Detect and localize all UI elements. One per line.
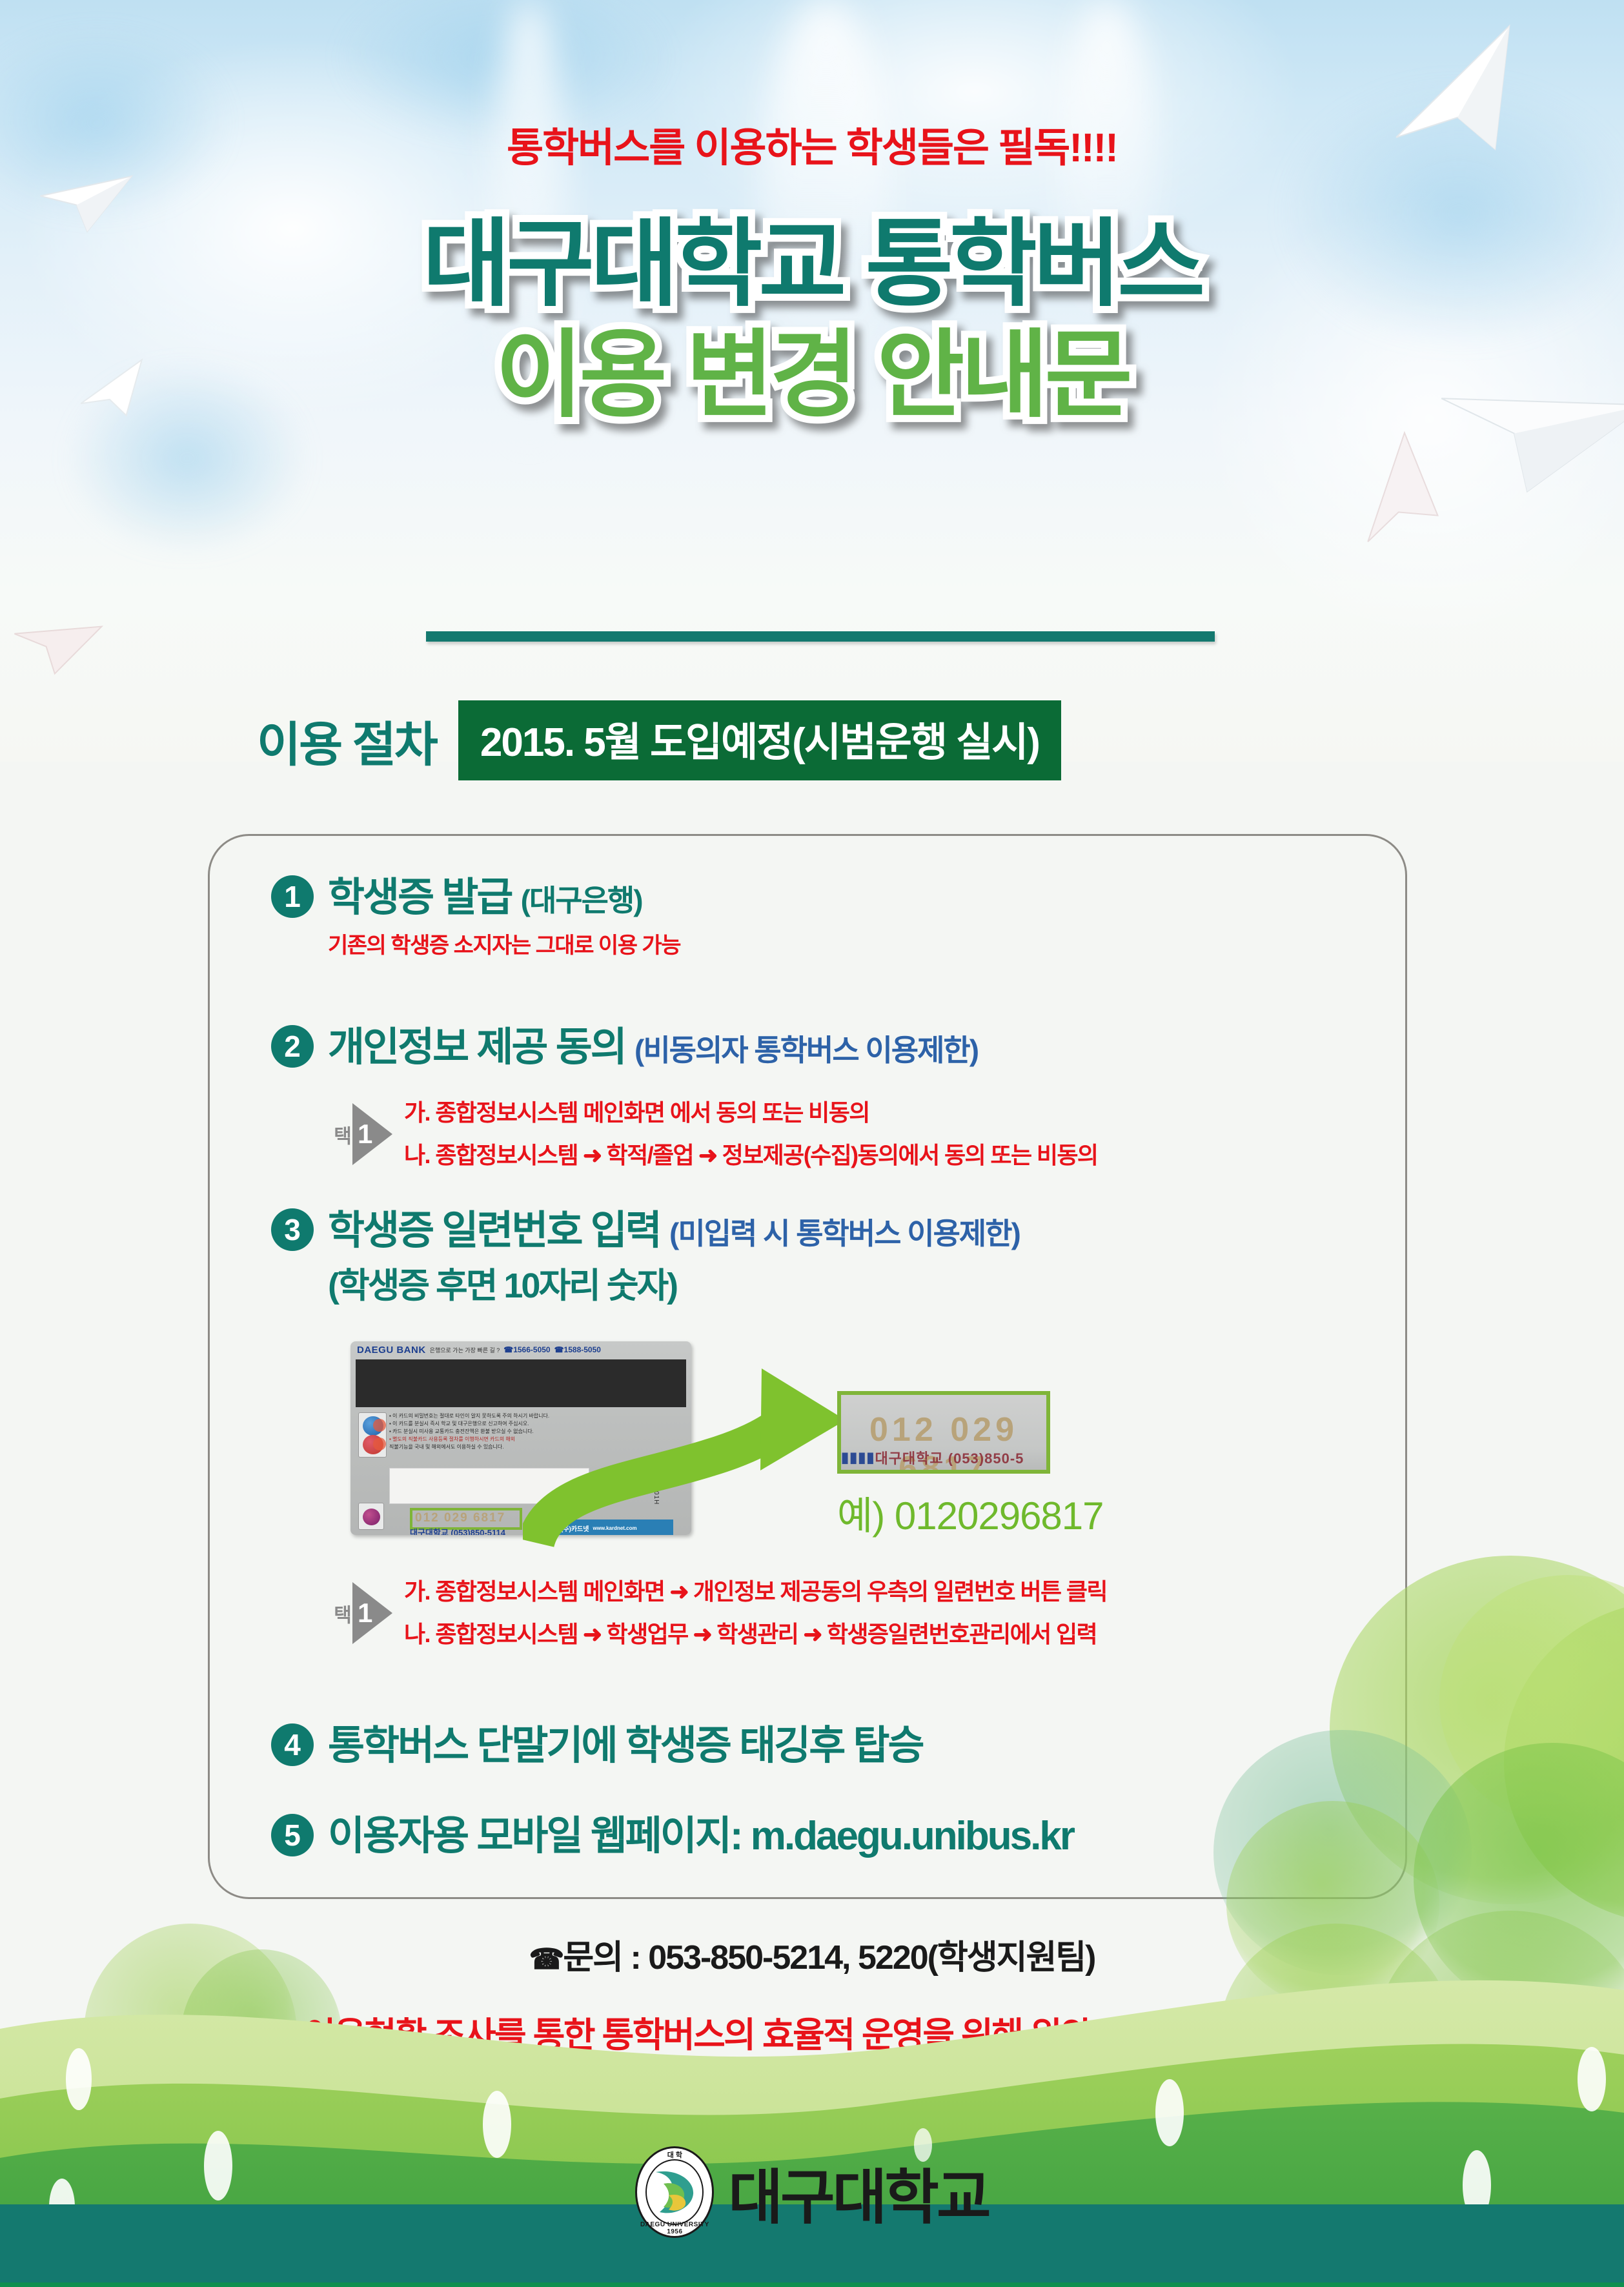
step-3: 3 학생증 일련번호 입력 (미입력 시 통학버스 이용제한) (학생증 후면 … — [271, 1208, 1020, 1308]
step-2: 2 개인정보 제공 동의 (비동의자 통학버스 이용제한) — [271, 1025, 978, 1070]
arrow-glyph-icon: ➜ — [664, 1578, 693, 1605]
step-5: 5 이용자용 모바일 웹페이지: m.daegu.unibus.kr — [271, 1814, 1073, 1858]
step-1-number: 1 — [271, 875, 314, 918]
choice-line-a-3: 가. 종합정보시스템 메인화면➜개인정보 제공동의 우측의 일련번호 버튼 클릭 — [404, 1580, 1107, 1603]
choice-line-b-3: 나. 종합정보시스템➜학생업무➜학생관리➜학생증일련번호관리에서 입력 — [404, 1623, 1107, 1646]
step-2-number: 2 — [271, 1025, 314, 1068]
choice-line-a-3-part-1: 개인정보 제공동의 우측의 일련번호 버튼 클릭 — [693, 1578, 1107, 1605]
choice-line-b-2-part-0: 종합정보시스템 — [435, 1142, 578, 1168]
choice-count-3: 1 — [358, 1598, 372, 1629]
choice-arrow-icon-3: 1 — [352, 1582, 392, 1644]
card-network-logos — [358, 1412, 387, 1458]
card-bank-name: DAEGU BANK — [357, 1345, 426, 1356]
footer-university-logo: 대 학 DAEGU UNIVERSITY 1956 대구대학교 — [0, 2146, 1624, 2238]
callout-strip-text: 대구대학교 (053)850-5 — [875, 1449, 1024, 1466]
step-3-title-text: 학생증 일련번호 입력 — [328, 1208, 660, 1253]
callout-bottom-strip: ▮▮▮▮대구대학교 (053)850-5 — [841, 1449, 1046, 1466]
choice-line-a-2: 가. 종합정보시스템 메인화면 에서 동의 또는 비동의 — [404, 1101, 1097, 1124]
step-5-number: 5 — [271, 1814, 314, 1856]
choice-line-b-3-prefix: 나. — [404, 1621, 435, 1647]
arrow-glyph-icon: ➜ — [578, 1621, 607, 1647]
step-1-paren: (대구은행) — [521, 884, 642, 917]
choice-marker-label-2: 택 — [330, 1126, 350, 1143]
choice-line-b-2-prefix: 나. — [404, 1142, 435, 1168]
card-slogan: 은행으로 가는 가장 빠른 길 ? — [430, 1346, 500, 1354]
title-line-2: 이용 변경 안내문 — [0, 324, 1624, 427]
section-label: 이용 절차 — [257, 706, 436, 775]
step-4-title: 통학버스 단말기에 학생증 태깅후 탑승 — [328, 1723, 923, 1768]
card-serial-number: 012 029 6817 — [415, 1511, 505, 1525]
choice-line-b-2-part-2: 정보제공(수집)동의에서 동의 또는 비동의 — [722, 1142, 1098, 1168]
step-1: 1 학생증 발급 (대구은행) 기존의 학생증 소지자는 그대로 이용 가능 — [271, 875, 680, 959]
choice-marker-step-3: 택 1 가. 종합정보시스템 메인화면➜개인정보 제공동의 우측의 일련번호 버… — [330, 1580, 1107, 1646]
step-4-number: 4 — [271, 1723, 314, 1766]
arrow-glyph-icon: ➜ — [693, 1142, 722, 1168]
section-header: 이용 절차 2015. 5월 도입예정(시범운행 실시) — [257, 700, 1061, 780]
green-curved-arrow-icon — [523, 1349, 858, 1565]
choice-marker-label-3: 택 — [330, 1605, 350, 1621]
kicker-text: 통학버스를 이용하는 학생들은 필독!!!! — [0, 115, 1624, 173]
step-1-subnote: 기존의 학생증 소지자는 그대로 이용 가능 — [328, 928, 680, 959]
title-divider — [426, 631, 1215, 642]
card-debit-logo — [358, 1503, 384, 1530]
choice-line-b-3-part-3: 학생증일련번호관리에서 입력 — [827, 1621, 1097, 1647]
step-2-title-text: 개인정보 제공 동의 — [328, 1025, 625, 1070]
serial-example-text: 예) 0120296817 — [837, 1485, 1104, 1541]
crest-bottom-text: DAEGU UNIVERSITY 1956 — [635, 2221, 714, 2235]
crest-top-text: 대 학 — [635, 2150, 714, 2160]
step-1-title-text: 학생증 발급 — [328, 875, 511, 920]
choice-lines-step-2: 가. 종합정보시스템 메인화면 에서 동의 또는 비동의 나. 종합정보시스템➜… — [404, 1101, 1097, 1167]
title-line-1: 대구대학교 통학버스 — [0, 213, 1624, 316]
step-5-title: 이용자용 모바일 웹페이지: m.daegu.unibus.kr — [328, 1814, 1073, 1858]
choice-line-a-2-part-0: 종합정보시스템 메인화면 에서 동의 또는 비동의 — [435, 1099, 869, 1126]
choice-line-b-3-part-0: 종합정보시스템 — [435, 1621, 578, 1647]
choice-marker-step-2: 택 1 가. 종합정보시스템 메인화면 에서 동의 또는 비동의 나. 종합정보… — [330, 1101, 1097, 1167]
choice-line-b-2: 나. 종합정보시스템➜학적/졸업➜정보제공(수집)동의에서 동의 또는 비동의 — [404, 1144, 1097, 1167]
choice-line-a-2-prefix: 가. — [404, 1099, 435, 1126]
step-3-title: 학생증 일련번호 입력 (미입력 시 통학버스 이용제한) — [328, 1208, 1020, 1253]
poster-root: 통학버스를 이용하는 학생들은 필독!!!! 대구대학교 통학버스 이용 변경 … — [0, 0, 1624, 2287]
step-2-paren: (비동의자 통학버스 이용제한) — [634, 1033, 978, 1067]
serial-zoom-callout: 012 029 6817 ▮▮▮▮대구대학교 (053)850-5 — [837, 1391, 1050, 1474]
choice-line-a-3-part-0: 종합정보시스템 메인화면 — [435, 1578, 664, 1605]
choice-lines-step-3: 가. 종합정보시스템 메인화면➜개인정보 제공동의 우측의 일련번호 버튼 클릭… — [404, 1580, 1107, 1646]
step-4: 4 통학버스 단말기에 학생증 태깅후 탑승 — [271, 1723, 923, 1768]
choice-line-a-3-prefix: 가. — [404, 1578, 435, 1605]
card-university-line: 대구대학교 (053)850-5114 — [410, 1526, 505, 1535]
step-1-title: 학생증 발급 (대구은행) — [328, 875, 680, 920]
step-3-secondline: (학생증 후면 10자리 숫자) — [328, 1257, 1020, 1308]
section-date-badge: 2015. 5월 도입예정(시범운행 실시) — [458, 700, 1061, 780]
step-2-title: 개인정보 제공 동의 (비동의자 통학버스 이용제한) — [328, 1025, 978, 1070]
arrow-glyph-icon: ➜ — [798, 1621, 827, 1647]
cirrus-logo-icon — [363, 1416, 383, 1436]
step-3-number: 3 — [271, 1208, 314, 1251]
choice-line-b-3-part-1: 학생업무 — [607, 1621, 688, 1647]
arrow-glyph-icon: ➜ — [578, 1142, 607, 1168]
step-3-paren: (미입력 시 통학버스 이용제한) — [669, 1217, 1020, 1250]
maestro-logo-icon — [363, 1435, 383, 1454]
poster-title: 대구대학교 통학버스 이용 변경 안내문 — [0, 213, 1624, 427]
choice-count-2: 1 — [358, 1119, 372, 1150]
daegu-university-crest-icon: 대 학 DAEGU UNIVERSITY 1956 — [635, 2146, 714, 2238]
choice-arrow-icon-2: 1 — [352, 1103, 392, 1165]
arrow-glyph-icon: ➜ — [688, 1621, 717, 1647]
footer-university-name: 대구대학교 — [728, 2150, 988, 2235]
choice-line-b-2-part-1: 학적/졸업 — [607, 1142, 693, 1168]
choice-line-b-3-part-2: 학생관리 — [716, 1621, 798, 1647]
